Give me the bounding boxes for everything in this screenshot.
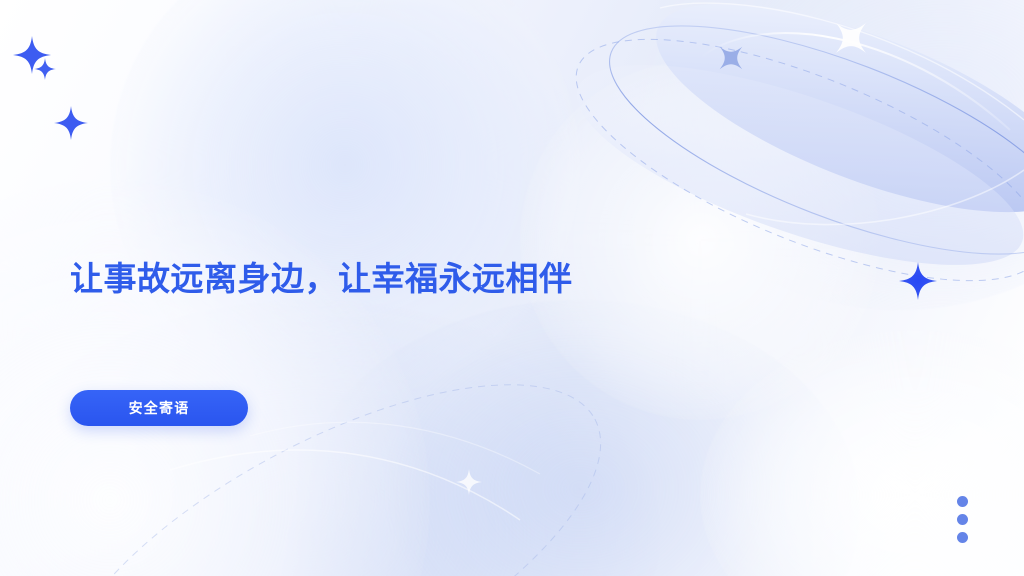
pagination-dot-3[interactable] (957, 532, 968, 543)
glow-blob-top-left (110, 0, 580, 400)
page-title: 让事故远离身边，让幸福永远相伴 (70, 258, 573, 300)
pagination-dot-2[interactable] (957, 514, 968, 525)
sparkle-right-bright (899, 262, 937, 300)
glow-blob-center-right (520, 60, 880, 420)
sparkle-ellipse-white (821, 8, 880, 67)
sparkle-left-medium (54, 106, 88, 140)
highlight-arc-lower (170, 422, 540, 520)
glow-blob-bottom-right (700, 330, 1024, 576)
orbit-ellipse-outline (583, 0, 1024, 301)
orbit-ellipse-filled-secondary (556, 24, 1024, 306)
slide-canvas: 让事故远离身边，让幸福永远相伴 安全寄语 (0, 0, 1024, 576)
highlight-arc-white (660, 3, 1024, 224)
sparkle-bottom-faint (456, 469, 482, 495)
pagination-dots[interactable] (957, 496, 968, 543)
glow-blob-left-light (0, 180, 430, 576)
orbit-ellipse-dashed-bottom (10, 315, 651, 576)
safety-message-button-label: 安全寄语 (129, 398, 190, 418)
pagination-dot-1[interactable] (957, 496, 968, 507)
glow-blob-right-top (640, 0, 1024, 310)
orbit-ellipse-filled (632, 0, 1024, 255)
glow-blob-bottom-center (300, 300, 860, 576)
sparkle-top-left-large (13, 36, 51, 74)
sparkle-ellipse-soft (708, 35, 753, 80)
orbit-ellipse-dashed (547, 0, 1024, 330)
sparkle-top-left-small (34, 58, 56, 80)
safety-message-button[interactable]: 安全寄语 (70, 390, 248, 426)
glow-blob-bottom-left (0, 300, 660, 576)
